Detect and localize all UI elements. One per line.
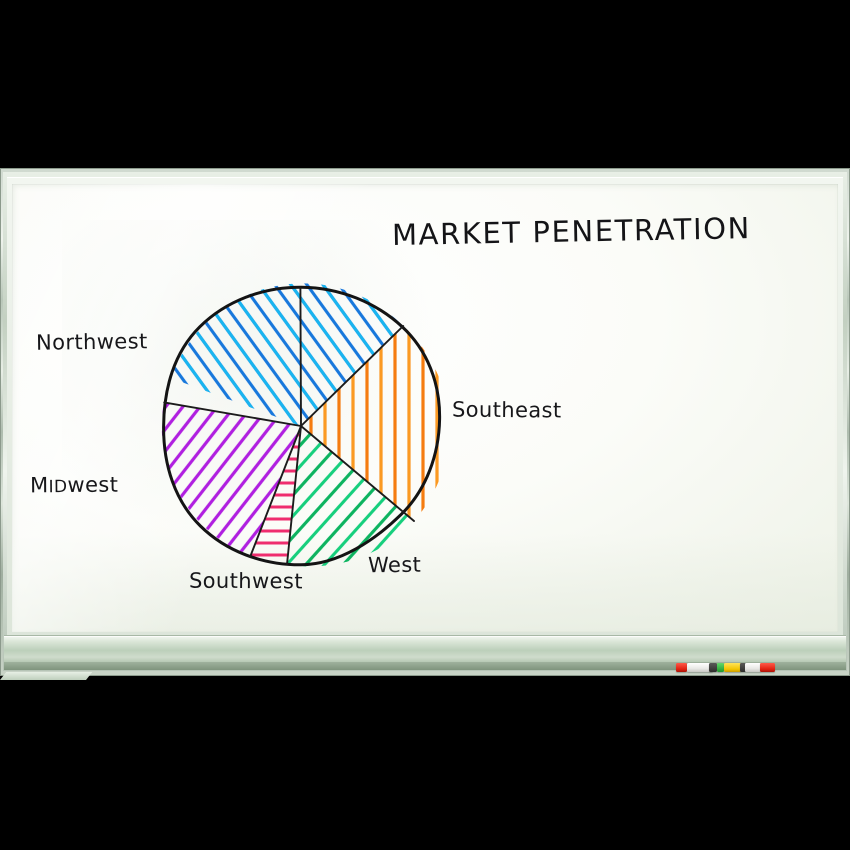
slice-label-southeast: Southeast (452, 398, 562, 423)
slice-label-midwest-suffix: west (67, 473, 118, 497)
divider-top (300, 288, 301, 426)
slice-label-midwest: MIDwest (30, 473, 119, 498)
slice-label-west: West (368, 553, 421, 578)
slice-label-midwest-prefix: M (30, 473, 49, 497)
chart-title: MARKET PENETRATION (392, 211, 752, 252)
slice-label-northwest: Northwest (36, 329, 148, 355)
slice-label-midwest-smallcaps: ID (48, 477, 67, 497)
screenshot-stage: MARKET PENETRATION Northwest MIDwest Sou… (0, 0, 850, 850)
pie-chart-drawing (0, 0, 850, 850)
slice-label-southwest: Southwest (189, 569, 303, 594)
